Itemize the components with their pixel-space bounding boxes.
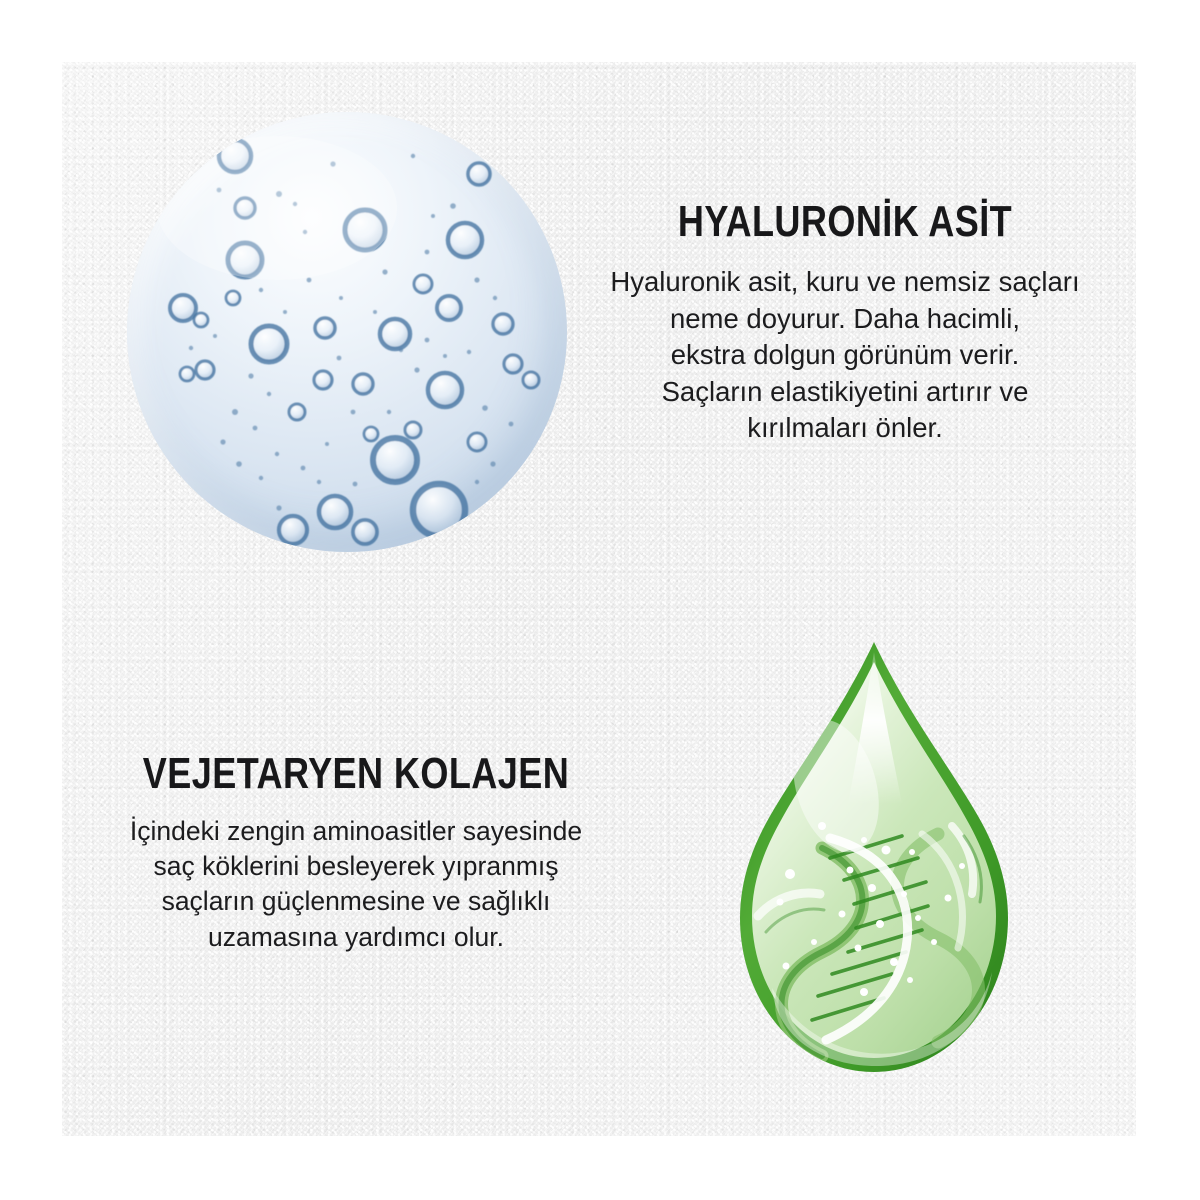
description-line: Saçların elastikiyetini artırır ve xyxy=(585,374,1105,411)
description-line: ekstra dolgun görünüm verir. xyxy=(585,337,1105,374)
description-line: uzamasına yardımcı olur. xyxy=(96,920,616,955)
blue-gel-bubbles-circle-icon xyxy=(127,112,567,552)
product-ingredient-infographic: HYALURONİK ASİT Hyaluronik asit, kuru ve… xyxy=(0,0,1200,1200)
hyaluronic-acid-heading: HYALURONİK ASİT xyxy=(632,200,1058,244)
description-line: saçların güçlenmesine ve sağlıklı xyxy=(96,884,616,919)
description-line: neme doyurur. Daha hacimli, xyxy=(585,301,1105,338)
description-line: saç köklerini besleyerek yıpranmış xyxy=(96,849,616,884)
vegetarian-collagen-heading: VEJETARYEN KOLAJEN xyxy=(143,752,569,796)
vegetarian-collagen-section: VEJETARYEN KOLAJEN İçindeki zengin amino… xyxy=(96,752,616,955)
hyaluronic-acid-section: HYALURONİK ASİT Hyaluronik asit, kuru ve… xyxy=(585,200,1105,447)
green-droplet-dna-icon xyxy=(726,636,1022,1080)
description-line: İçindeki zengin aminoasitler sayesinde xyxy=(96,814,616,849)
hyaluronic-acid-description: Hyaluronik asit, kuru ve nemsiz saçları … xyxy=(585,264,1105,447)
description-line: Hyaluronik asit, kuru ve nemsiz saçları xyxy=(585,264,1105,301)
vegetarian-collagen-description: İçindeki zengin aminoasitler sayesinde s… xyxy=(96,814,616,955)
description-line: kırılmaları önler. xyxy=(585,410,1105,447)
